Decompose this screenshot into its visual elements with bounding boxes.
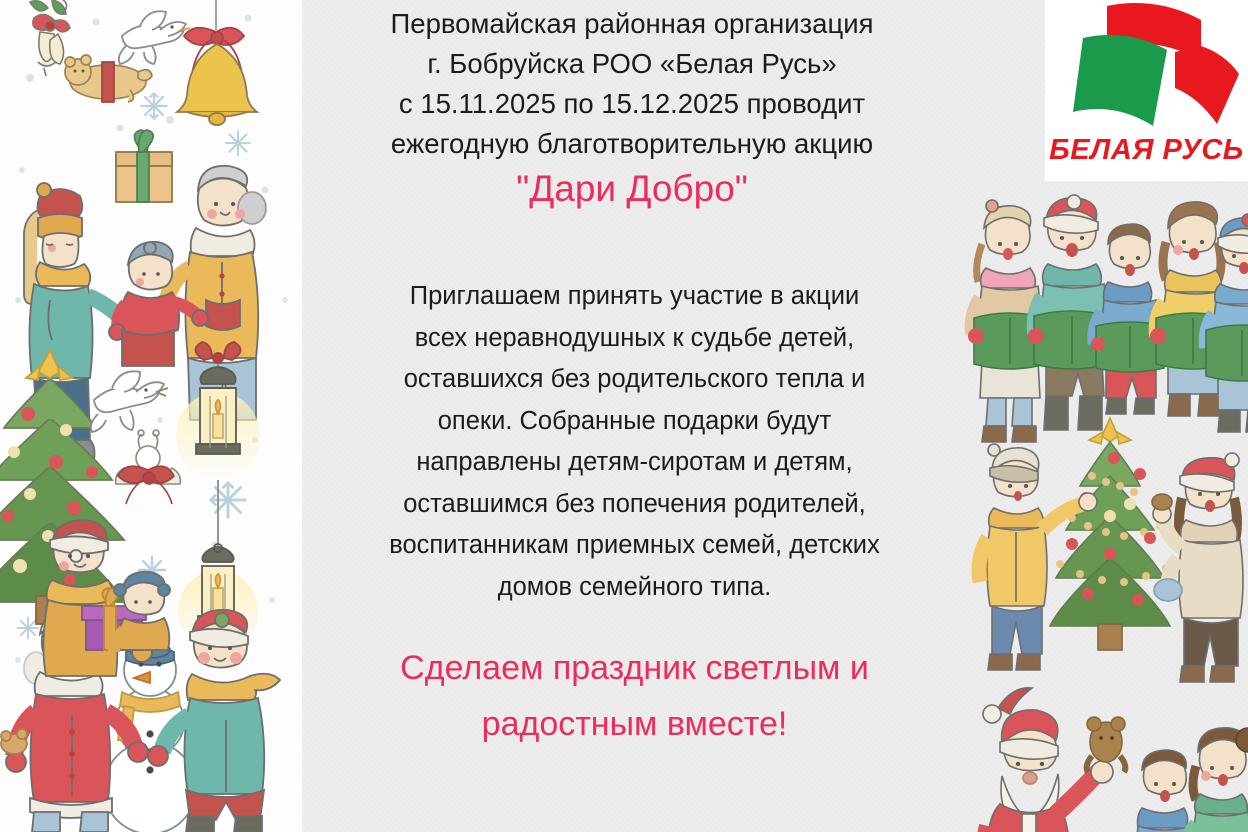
header-line-city: г. Бобруйска РОО «Белая Русь» [302,44,962,84]
closing-line: Сделаем праздник светлым и [312,640,957,696]
body-line: домов семейного типа. [312,567,957,609]
left-illustration-svg [0,0,302,832]
body-paragraph: Приглашаем принять участие в акции всех … [312,276,957,608]
right-illustration-svg [960,186,1248,832]
right-illustration-column [960,186,1248,832]
header-line-dates: с 15.11.2025 по 15.12.2025 проводит [302,84,962,124]
campaign-title: "Дари Добро" [302,166,962,212]
header-block: Первомайская районная организация г. Боб… [302,4,962,212]
children-decorating-christmas-tree-illustration [979,418,1243,682]
poster-text-content: Первомайская районная организация г. Боб… [302,0,1045,832]
closing-line: радостным вместе! [312,696,957,752]
charity-campaign-poster: БЕЛАЯ РУСЬ Первомайская районная организ… [0,0,1248,832]
body-line: Приглашаем принять участие в акции [312,276,957,318]
body-line: опеки. Собранные подарки будут [312,401,957,443]
body-line: оставшимся без попечения родителей, [312,484,957,526]
five-carolers-singing-illustration [968,195,1248,442]
logo-wordmark: БЕЛАЯ РУСЬ [1045,134,1248,167]
belaya-rus-flag-emblem [1049,2,1245,138]
left-illustration-column [0,0,302,832]
body-line: направлены детям-сиротам и детям, [312,442,957,484]
header-line-organization: Первомайская районная организация [302,4,962,44]
header-line-campaign: ежегодную благотворительную акцию [302,124,962,164]
body-line: всех неравнодушных к судьбе детей, [312,318,957,360]
body-line: воспитанникам приемных семей, детских [312,525,957,567]
closing-slogan: Сделаем праздник светлым и радостным вме… [312,640,957,752]
belaya-rus-logo: БЕЛАЯ РУСЬ [1045,0,1248,181]
body-line: оставшихся без родительского тепла и [312,359,957,401]
santa-with-teddy-bear-and-children-illustration [983,688,1248,832]
